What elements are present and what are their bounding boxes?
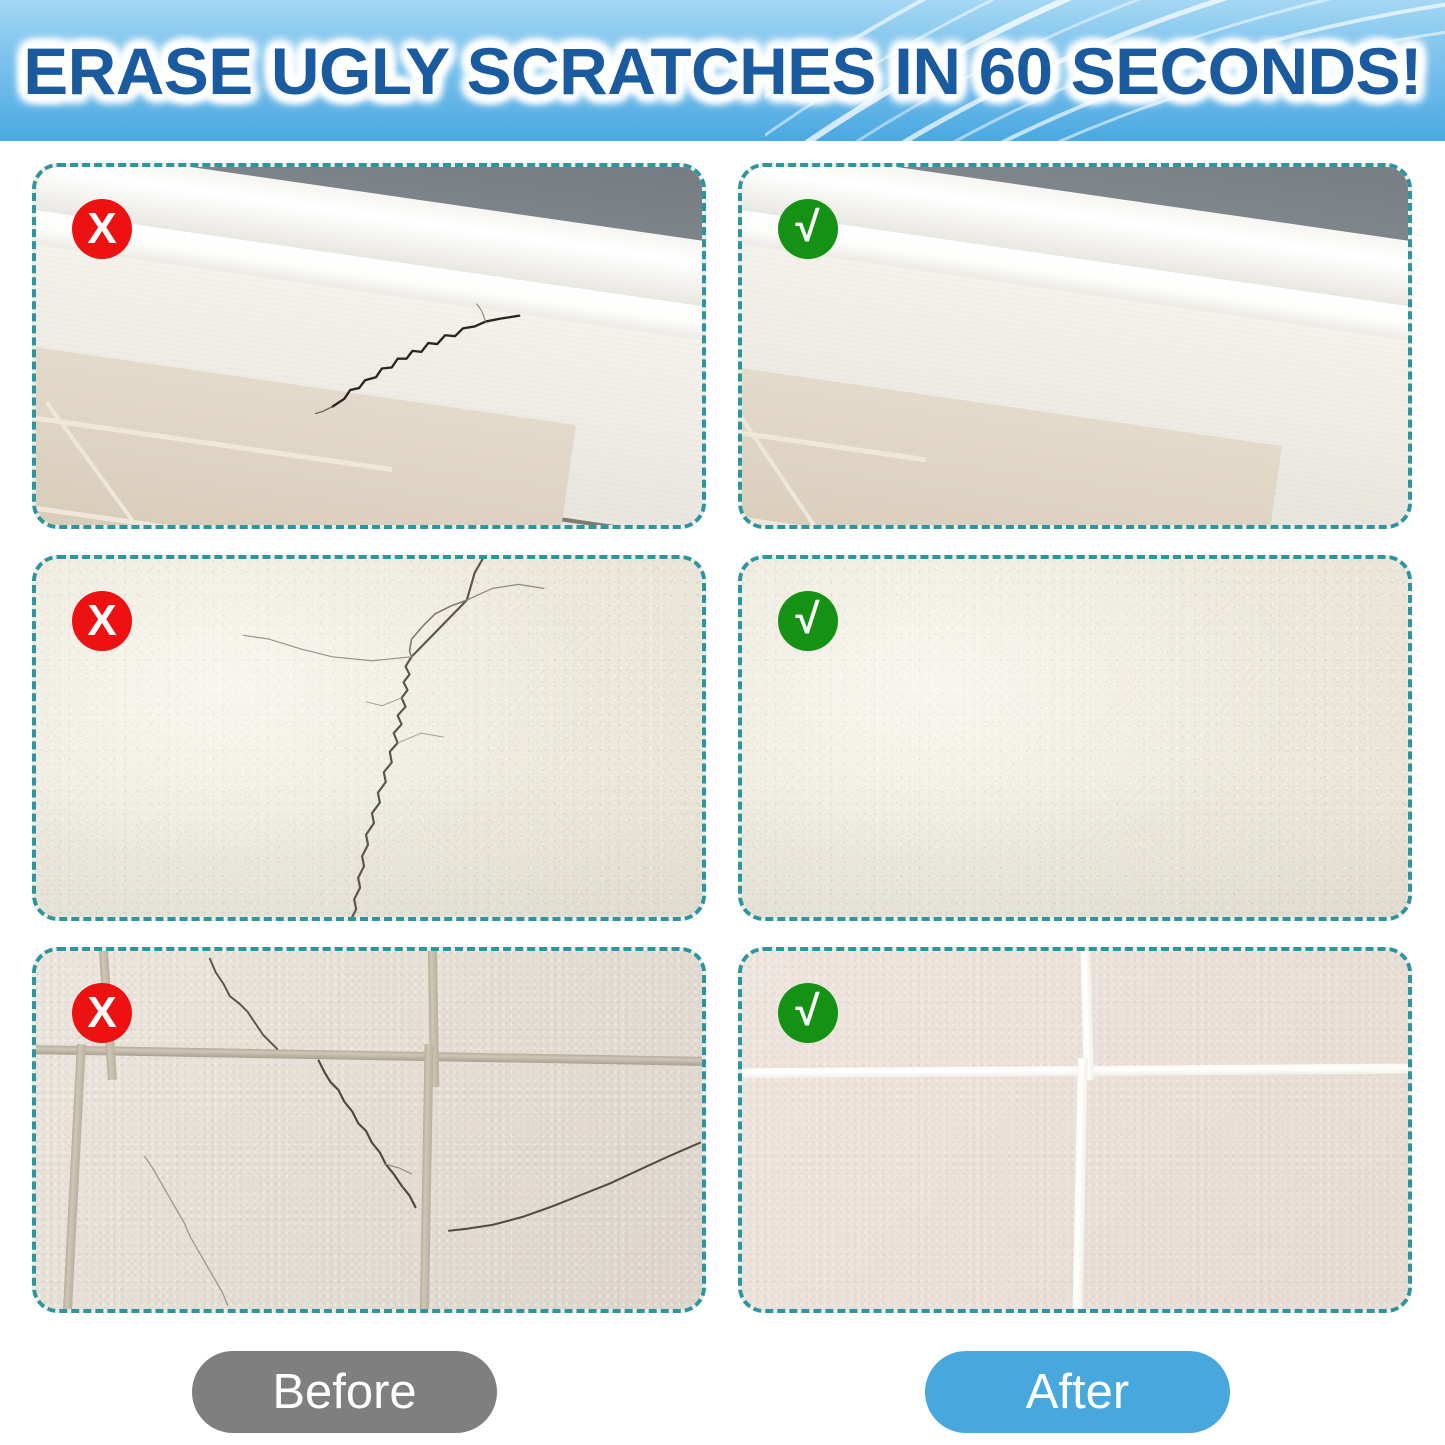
check-badge-icon: √	[778, 983, 838, 1043]
cross-badge-icon: X	[72, 983, 132, 1043]
check-badge-icon: √	[778, 591, 838, 651]
cross-badge-label: X	[87, 599, 116, 643]
panel-before-tile[interactable]: X	[32, 947, 706, 1313]
panel-before-wall[interactable]: X	[32, 555, 706, 921]
image-tile-clean	[742, 951, 1408, 1309]
image-wall-smooth	[742, 559, 1408, 917]
image-baseboard-repaired	[742, 167, 1408, 525]
footer-labels: Before After	[0, 1331, 1445, 1445]
header-banner: ERASE UGLY SCRATCHES IN 60 SECONDS!	[0, 0, 1445, 141]
cross-badge-label: X	[87, 991, 116, 1035]
page-title: ERASE UGLY SCRATCHES IN 60 SECONDS!	[23, 33, 1422, 109]
before-label-text: Before	[272, 1364, 416, 1420]
check-badge-label: √	[796, 206, 820, 248]
panel-after-wall[interactable]: √	[738, 555, 1412, 921]
image-wall-cracked	[36, 559, 702, 917]
panel-after-baseboard[interactable]: √	[738, 163, 1412, 529]
crack-overlay-icon	[36, 559, 702, 917]
crack-overlay-icon	[36, 951, 702, 1309]
cross-badge-icon: X	[72, 199, 132, 259]
check-badge-label: √	[796, 990, 820, 1032]
image-baseboard-cracked	[36, 167, 702, 525]
cross-badge-label: X	[87, 207, 116, 251]
check-badge-label: √	[796, 598, 820, 640]
after-label-pill: After	[925, 1351, 1230, 1433]
image-tile-cracked	[36, 951, 702, 1309]
crack-overlay-icon	[36, 167, 702, 525]
after-label-text: After	[1026, 1364, 1129, 1420]
check-badge-icon: √	[778, 199, 838, 259]
comparison-grid: X √	[0, 141, 1445, 1331]
before-label-pill: Before	[192, 1351, 497, 1433]
panel-after-tile[interactable]: √	[738, 947, 1412, 1313]
panel-before-baseboard[interactable]: X	[32, 163, 706, 529]
cross-badge-icon: X	[72, 591, 132, 651]
